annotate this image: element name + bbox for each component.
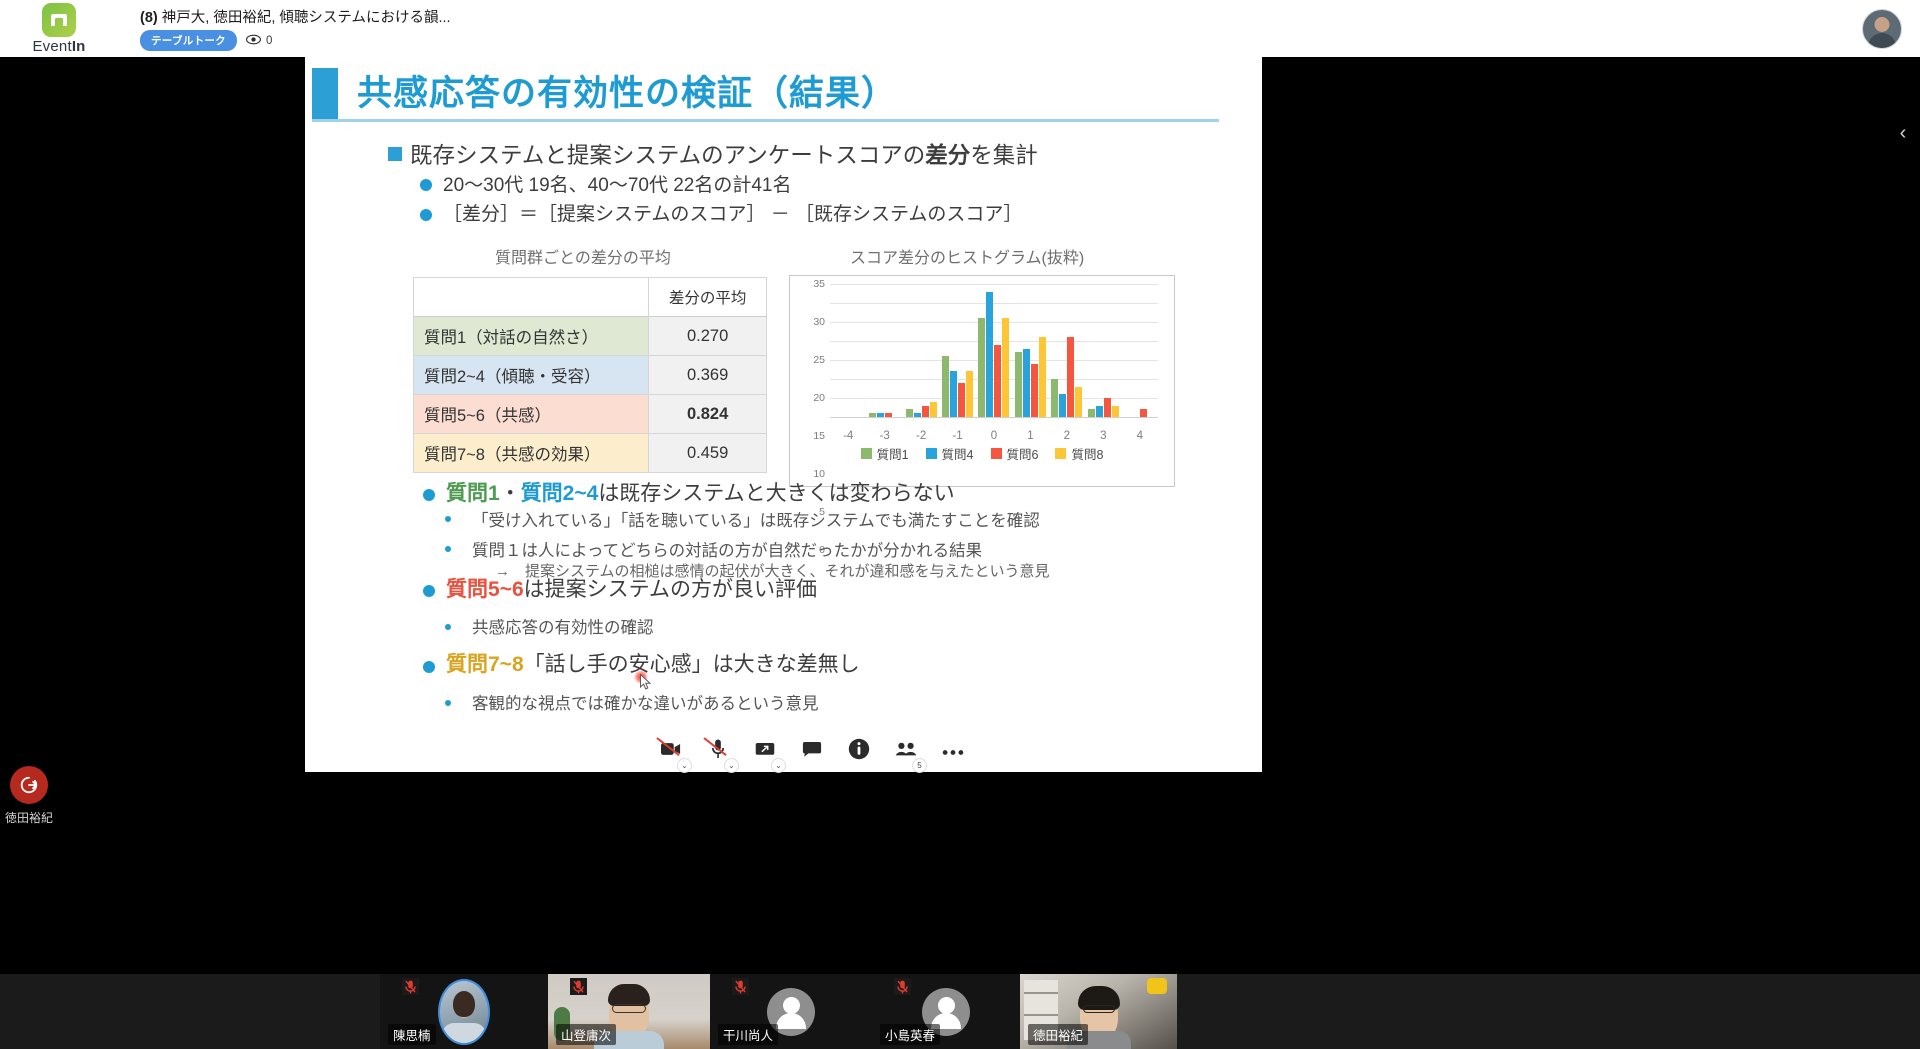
chart-bar: [869, 413, 876, 417]
table-cell-value-highlighted: 0.824: [649, 395, 767, 434]
chart-bar-group: [976, 284, 1012, 417]
chart-legend-label: 質問1: [877, 444, 909, 463]
chart-bar: [1075, 387, 1082, 417]
chart-bar: [966, 371, 973, 417]
slide-bullet-1: 既存システムと提案システムのアンケートスコアの差分を集計: [410, 138, 1038, 170]
chart-bar: [877, 413, 884, 417]
meeting-title: (8) 神戸大, 徳田裕紀, 傾聴システムにおける韻...: [140, 6, 451, 27]
meeting-subinfo: テーブルトーク 0: [140, 30, 451, 51]
exit-button[interactable]: [10, 766, 48, 804]
slide-title-rule: [312, 119, 1219, 122]
chart-bar: [1067, 337, 1074, 417]
slide-bullet-1-sub-2: ［差分］＝［提案システムのスコア］ － ［既存システムのスコア］: [443, 199, 1022, 226]
avatar-head: [1875, 17, 1890, 32]
chart-bar: [885, 413, 892, 417]
camera-off-button[interactable]: ⌄: [650, 731, 691, 772]
chart-bar: [1088, 409, 1095, 417]
room-tag-badge: テーブルトーク: [140, 30, 237, 51]
chart-x-tick-label: -4: [843, 430, 853, 442]
participant-count-badge: 5: [912, 758, 927, 773]
chart-legend-swatch: [991, 448, 1002, 459]
chart-legend-label: 質問6: [1007, 444, 1039, 463]
participant-filmstrip: 陳思楠山登庸次干川尚人小島英春徳田裕紀: [0, 974, 1920, 1049]
chart-x-tick-label: 0: [991, 430, 997, 442]
table-cell-label: 質問7~8（共感の効果）: [414, 434, 649, 473]
mic-off-icon: [402, 978, 419, 995]
chart-y-tick-label: 25: [813, 354, 825, 366]
chart-bar: [1039, 337, 1046, 417]
chart-bar: [1023, 349, 1030, 417]
chart-x-tick-label: 4: [1137, 430, 1143, 442]
chart-bar-group: [1122, 284, 1158, 417]
participants-button[interactable]: 5: [885, 731, 926, 772]
bullet-dot-small-icon: [445, 624, 451, 630]
bullet-dot-icon: [423, 585, 435, 597]
bullet-dot-icon: [420, 179, 432, 191]
bullet-square-icon: [388, 147, 402, 161]
chart-bar-group: [1012, 284, 1048, 417]
chart-x-tick-label: -1: [952, 430, 962, 442]
chart-bar-group: [1049, 284, 1085, 417]
avatar: [438, 979, 490, 1045]
chart-bar: [958, 383, 965, 417]
chart-x-tick-label: -3: [880, 430, 890, 442]
participant-name-label: 陳思楠: [388, 1024, 436, 1045]
brand-name: EventIn: [32, 38, 85, 55]
chart-legend-item: 質問6: [991, 444, 1039, 463]
chart-bar-group: [939, 284, 975, 417]
chart-bar: [914, 413, 921, 417]
view-count-value: 0: [266, 35, 272, 47]
participant-tile[interactable]: 徳田裕紀: [1020, 974, 1177, 1049]
top-bar-right: [1862, 9, 1902, 49]
chart-legend: 質問1質問4質問6質問8: [790, 444, 1174, 463]
chart-bar: [1140, 409, 1147, 417]
participant-tile[interactable]: 小島英春: [872, 974, 1020, 1049]
chart-bar: [1112, 406, 1119, 417]
chart-bar: [1002, 318, 1009, 417]
chat-icon: [802, 741, 822, 763]
table-cell-label: 質問5~6（共感）: [414, 395, 649, 434]
eventin-meeting-window: EventIn (8) 神戸大, 徳田裕紀, 傾聴システムにおける韻... テー…: [0, 0, 1920, 1049]
participant-name-label: 山登庸次: [556, 1024, 616, 1045]
more-button[interactable]: [932, 731, 973, 772]
table-cell-value: 0.369: [649, 356, 767, 395]
table-cell-value: 0.270: [649, 317, 767, 356]
share-screen-button[interactable]: ⌄: [744, 731, 785, 772]
view-count: 0: [246, 34, 272, 48]
bullet-dot-small-icon: [445, 546, 451, 552]
chart-bar: [986, 292, 993, 417]
presentation-stage: ‹ 徳田裕紀 共感応答の有効性の検証（結果） 既存システムと提案システムのアンケ…: [0, 57, 1920, 974]
chart-legend-swatch: [861, 448, 872, 459]
chart-bar: [1015, 352, 1022, 417]
slide-bullet-1-sub-1: 20〜30代 19名、40〜70代 22名の計41名: [443, 170, 792, 197]
table-cell-label: 質問1（対話の自然さ）: [414, 317, 649, 356]
chart-legend-label: 質問8: [1071, 444, 1103, 463]
chart-bar: [906, 409, 913, 417]
chart-y-tick-label: 30: [813, 316, 825, 328]
chart-y-tick-label: 15: [813, 430, 825, 442]
chart-legend-item: 質問1: [861, 444, 909, 463]
finding-1-sub-1: 「受け入れている」「話を聴いている」は既存システムでも満たすことを確認: [472, 507, 1040, 531]
bullet-dot-small-icon: [445, 700, 451, 706]
chart-bar: [978, 318, 985, 417]
exit-label: 徳田裕紀: [0, 809, 58, 826]
avatar-body: [1868, 33, 1896, 49]
table-row: 質問1（対話の自然さ） 0.270: [414, 317, 767, 356]
table-header-row: 差分の平均: [414, 278, 767, 317]
chart-bar: [930, 402, 937, 417]
chart-bar: [1104, 398, 1111, 417]
slide-title-accent-bar: [312, 68, 338, 120]
table-row: 質問7~8（共感の効果） 0.459: [414, 434, 767, 473]
mic-off-icon: [732, 978, 749, 995]
chart-y-tick-label: 20: [813, 392, 825, 404]
mic-off-icon: [894, 978, 911, 995]
chart-legend-swatch: [926, 448, 937, 459]
brand-logo[interactable]: EventIn: [0, 3, 118, 55]
cursor-arrow-icon: [640, 674, 653, 696]
bullet-dot-icon: [420, 209, 432, 221]
mic-off-icon: [570, 978, 587, 995]
chart-x-tick-label: 3: [1100, 430, 1106, 442]
meeting-toolbar: ⌄⌄⌄5: [650, 731, 973, 772]
chart-y-tick-label: 35: [813, 278, 825, 290]
chevron-down-icon[interactable]: ⌄: [724, 758, 739, 773]
chart-legend-item: 質問8: [1055, 444, 1103, 463]
chart-bar: [1059, 394, 1066, 417]
info-button[interactable]: [838, 731, 879, 772]
page-title: 共感応答の有効性の検証（結果）: [357, 65, 897, 116]
chart-gridline: 0: [830, 417, 1158, 418]
participant-tile[interactable]: 陳思楠: [380, 974, 548, 1049]
mouse-cursor: [634, 670, 654, 692]
chart-bar: [1096, 406, 1103, 417]
table-cell-value: 0.459: [649, 434, 767, 473]
chart-plot-area: 35302520151050-4-3-2-101234: [830, 284, 1158, 417]
table-row: 質問2~4（傾聴・受容） 0.369: [414, 356, 767, 395]
avatar[interactable]: [1862, 9, 1902, 49]
table-row: 質問5~6（共感） 0.824: [414, 395, 767, 434]
mic-off-button[interactable]: ⌄: [697, 731, 738, 772]
eye-icon: [246, 34, 261, 48]
chart-caption: スコア差分のヒストグラム(抜粋): [850, 244, 1084, 268]
difference-average-table: 差分の平均 質問1（対話の自然さ） 0.270 質問2~4（傾聴・受容） 0.3…: [413, 277, 767, 473]
chart-bar: [942, 356, 949, 417]
chart-bar-group: [866, 284, 902, 417]
meeting-title-text: 神戸大, 徳田裕紀, 傾聴システムにおける韻...: [162, 10, 451, 26]
chart-x-tick-label: 1: [1027, 430, 1033, 442]
participant-tile[interactable]: 干川尚人: [710, 974, 872, 1049]
chart-bar: [1031, 364, 1038, 417]
chevron-down-icon[interactable]: ⌄: [771, 758, 786, 773]
more-dots-icon: [942, 743, 964, 761]
participant-name-label: 小島英春: [880, 1024, 940, 1045]
chart-x-tick-label: 2: [1064, 430, 1070, 442]
histogram-chart: 35302520151050-4-3-2-101234 質問1質問4質問6質問8: [789, 275, 1175, 487]
chart-legend-label: 質問4: [942, 444, 974, 463]
bullet-dot-icon: [423, 661, 435, 673]
chart-bar: [950, 371, 957, 417]
chevron-down-icon[interactable]: ⌄: [677, 758, 692, 773]
chevron-left-icon[interactable]: ‹: [1894, 120, 1912, 146]
table-caption: 質問群ごとの差分の平均: [495, 244, 671, 268]
bullet-dot-small-icon: [445, 516, 451, 522]
chart-x-tick-label: -2: [916, 430, 926, 442]
participant-tile[interactable]: 山登庸次: [548, 974, 710, 1049]
slide-canvas[interactable]: 共感応答の有効性の検証（結果） 既存システムと提案システムのアンケートスコアの差…: [305, 57, 1262, 772]
people-icon: [895, 741, 917, 762]
finding-2-sub-1: 共感応答の有効性の確認: [472, 614, 654, 638]
info-icon: [848, 738, 870, 765]
finding-2: 質問5~6は提案システムの方が良い評価: [446, 573, 817, 603]
chart-bar: [922, 406, 929, 417]
meeting-info: (8) 神戸大, 徳田裕紀, 傾聴システムにおける韻... テーブルトーク 0: [140, 6, 451, 51]
bullet-dot-icon: [423, 489, 435, 501]
participant-name-label: 徳田裕紀: [1028, 1024, 1088, 1045]
chart-bar-group: [903, 284, 939, 417]
chart-bar: [1051, 379, 1058, 417]
chart-bar-group: [830, 284, 866, 417]
chart-bar: [994, 345, 1001, 417]
table-header-cell-empty: [414, 278, 649, 317]
chart-legend-item: 質問4: [926, 444, 974, 463]
chat-button[interactable]: [791, 731, 832, 772]
top-bar: EventIn (8) 神戸大, 徳田裕紀, 傾聴システムにおける韻... テー…: [0, 0, 1920, 57]
finding-1: 質問1・質問2~4は既存システムと大きくは変わらない: [446, 477, 955, 507]
table-header-cell-average: 差分の平均: [649, 278, 767, 317]
eventin-logo-icon: [42, 3, 76, 37]
table-cell-label: 質問2~4（傾聴・受容）: [414, 356, 649, 395]
screen-share-icon: [755, 742, 775, 762]
chart-bar-group: [1085, 284, 1121, 417]
participant-name-label: 干川尚人: [718, 1024, 778, 1045]
chart-legend-swatch: [1055, 448, 1066, 459]
participant-count: (8): [140, 10, 158, 26]
finding-1-sub-2: 質問１は人によってどちらの対話の方が自然だったかが分かれる結果: [472, 537, 982, 561]
